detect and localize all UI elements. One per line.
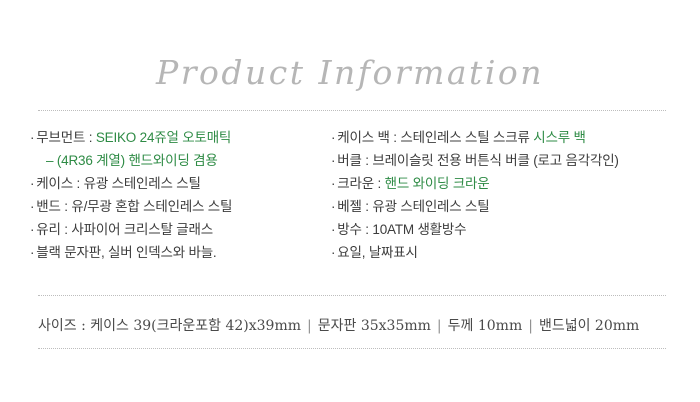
bullet-icon: · bbox=[331, 130, 335, 145]
spec-item-glass: ·유리 : 사파이어 크리스탈 글래스 bbox=[30, 218, 330, 241]
size-item-band-width: 밴드넓이 20mm bbox=[539, 318, 639, 334]
spec-separator: : bbox=[362, 153, 373, 168]
bullet-icon: · bbox=[331, 245, 335, 260]
size-item-case: 케이스 39(크라운포함 42)x39mm bbox=[90, 318, 301, 334]
spec-column-left: ·무브먼트 : SEIKO 24쥬얼 오토매틱 – (4R36 계열) 핸드와이… bbox=[30, 126, 330, 264]
spec-item-case-back: ·케이스 백 : 스테인레스 스틸 스크류 시스루 백 bbox=[331, 126, 681, 149]
spec-value-highlight: 시스루 백 bbox=[533, 130, 585, 145]
spec-separator: : bbox=[85, 130, 96, 145]
bullet-icon: · bbox=[30, 222, 34, 237]
spec-separator: : bbox=[61, 222, 72, 237]
size-separator: | bbox=[301, 318, 318, 334]
size-item-thickness: 두께 10mm bbox=[448, 318, 523, 334]
spec-label: 방수 bbox=[337, 222, 361, 237]
spec-label: 무브먼트 bbox=[36, 130, 85, 145]
bullet-icon: · bbox=[30, 199, 34, 214]
size-item-dial: 문자판 35x35mm bbox=[318, 318, 431, 334]
spec-label: 케이스 bbox=[36, 176, 73, 191]
size-separator: | bbox=[522, 318, 539, 334]
spec-value: 요일, 날짜표시 bbox=[337, 245, 417, 260]
spec-value-highlight: 핸드 와이딩 크라운 bbox=[385, 176, 490, 191]
spec-item-movement-sub: – (4R36 계열) 핸드와이딩 겸용 bbox=[30, 149, 330, 172]
spec-value: 유/무광 혼합 스테인레스 스틸 bbox=[71, 199, 232, 214]
bullet-icon: · bbox=[30, 245, 34, 260]
spec-column-right: ·케이스 백 : 스테인레스 스틸 스크류 시스루 백 ·버클 : 브레이슬릿 … bbox=[331, 126, 681, 264]
spec-label: 버클 bbox=[337, 153, 361, 168]
page-title-wrapper: Product Information bbox=[0, 56, 700, 89]
spec-separator: : bbox=[362, 199, 373, 214]
spec-separator: : bbox=[73, 176, 84, 191]
divider-bottom bbox=[38, 348, 666, 350]
bullet-icon: · bbox=[331, 176, 335, 191]
spec-value: 스테인레스 스틸 스크류 bbox=[400, 130, 533, 145]
spec-label: 베젤 bbox=[337, 199, 361, 214]
spec-item-case: ·케이스 : 유광 스테인레스 스틸 bbox=[30, 172, 330, 195]
spec-columns: ·무브먼트 : SEIKO 24쥬얼 오토매틱 – (4R36 계열) 핸드와이… bbox=[0, 126, 700, 281]
spec-item-band: ·밴드 : 유/무광 혼합 스테인레스 스틸 bbox=[30, 195, 330, 218]
spec-value: 브레이슬릿 전용 버튼식 버클 (로고 음각각인) bbox=[372, 153, 618, 168]
spec-value: 10ATM 생활방수 bbox=[372, 222, 466, 237]
spec-value: 유광 스테인레스 스틸 bbox=[84, 176, 201, 191]
spec-value: 유광 스테인레스 스틸 bbox=[372, 199, 489, 214]
spec-label: 유리 bbox=[36, 222, 60, 237]
bullet-icon: · bbox=[331, 199, 335, 214]
spec-item-bezel: ·베젤 : 유광 스테인레스 스틸 bbox=[331, 195, 681, 218]
spec-label: 케이스 백 bbox=[337, 130, 389, 145]
size-prefix: 사이즈 : bbox=[38, 318, 90, 334]
spec-label: 크라운 bbox=[337, 176, 374, 191]
spec-item-day-date: ·요일, 날짜표시 bbox=[331, 241, 681, 264]
spec-value: SEIKO 24쥬얼 오토매틱 bbox=[96, 130, 231, 145]
size-summary: 사이즈 : 케이스 39(크라운포함 42)x39mm|문자판 35x35mm|… bbox=[38, 315, 666, 335]
spec-label: 밴드 bbox=[36, 199, 60, 214]
spec-item-buckle: ·버클 : 브레이슬릿 전용 버튼식 버클 (로고 음각각인) bbox=[331, 149, 681, 172]
spec-item-movement: ·무브먼트 : SEIKO 24쥬얼 오토매틱 bbox=[30, 126, 330, 149]
spec-separator: : bbox=[390, 130, 401, 145]
page-title: Product Information bbox=[156, 56, 544, 89]
divider-middle bbox=[38, 295, 666, 297]
spec-separator: : bbox=[374, 176, 385, 191]
spec-value: 사파이어 크리스탈 글래스 bbox=[71, 222, 213, 237]
bullet-icon: · bbox=[331, 222, 335, 237]
spec-item-dial: ·블랙 문자판, 실버 인덱스와 바늘. bbox=[30, 241, 330, 264]
size-separator: | bbox=[431, 318, 448, 334]
bullet-icon: · bbox=[30, 176, 34, 191]
spec-separator: : bbox=[61, 199, 72, 214]
bullet-icon: · bbox=[331, 153, 335, 168]
divider-top bbox=[38, 110, 666, 112]
spec-item-crown: ·크라운 : 핸드 와이딩 크라운 bbox=[331, 172, 681, 195]
bullet-icon: · bbox=[30, 130, 34, 145]
spec-separator: : bbox=[362, 222, 373, 237]
spec-value: 블랙 문자판, 실버 인덱스와 바늘. bbox=[36, 245, 216, 260]
product-information-page: Product Information ·무브먼트 : SEIKO 24쥬얼 오… bbox=[0, 0, 700, 402]
spec-item-water-resistance: ·방수 : 10ATM 생활방수 bbox=[331, 218, 681, 241]
